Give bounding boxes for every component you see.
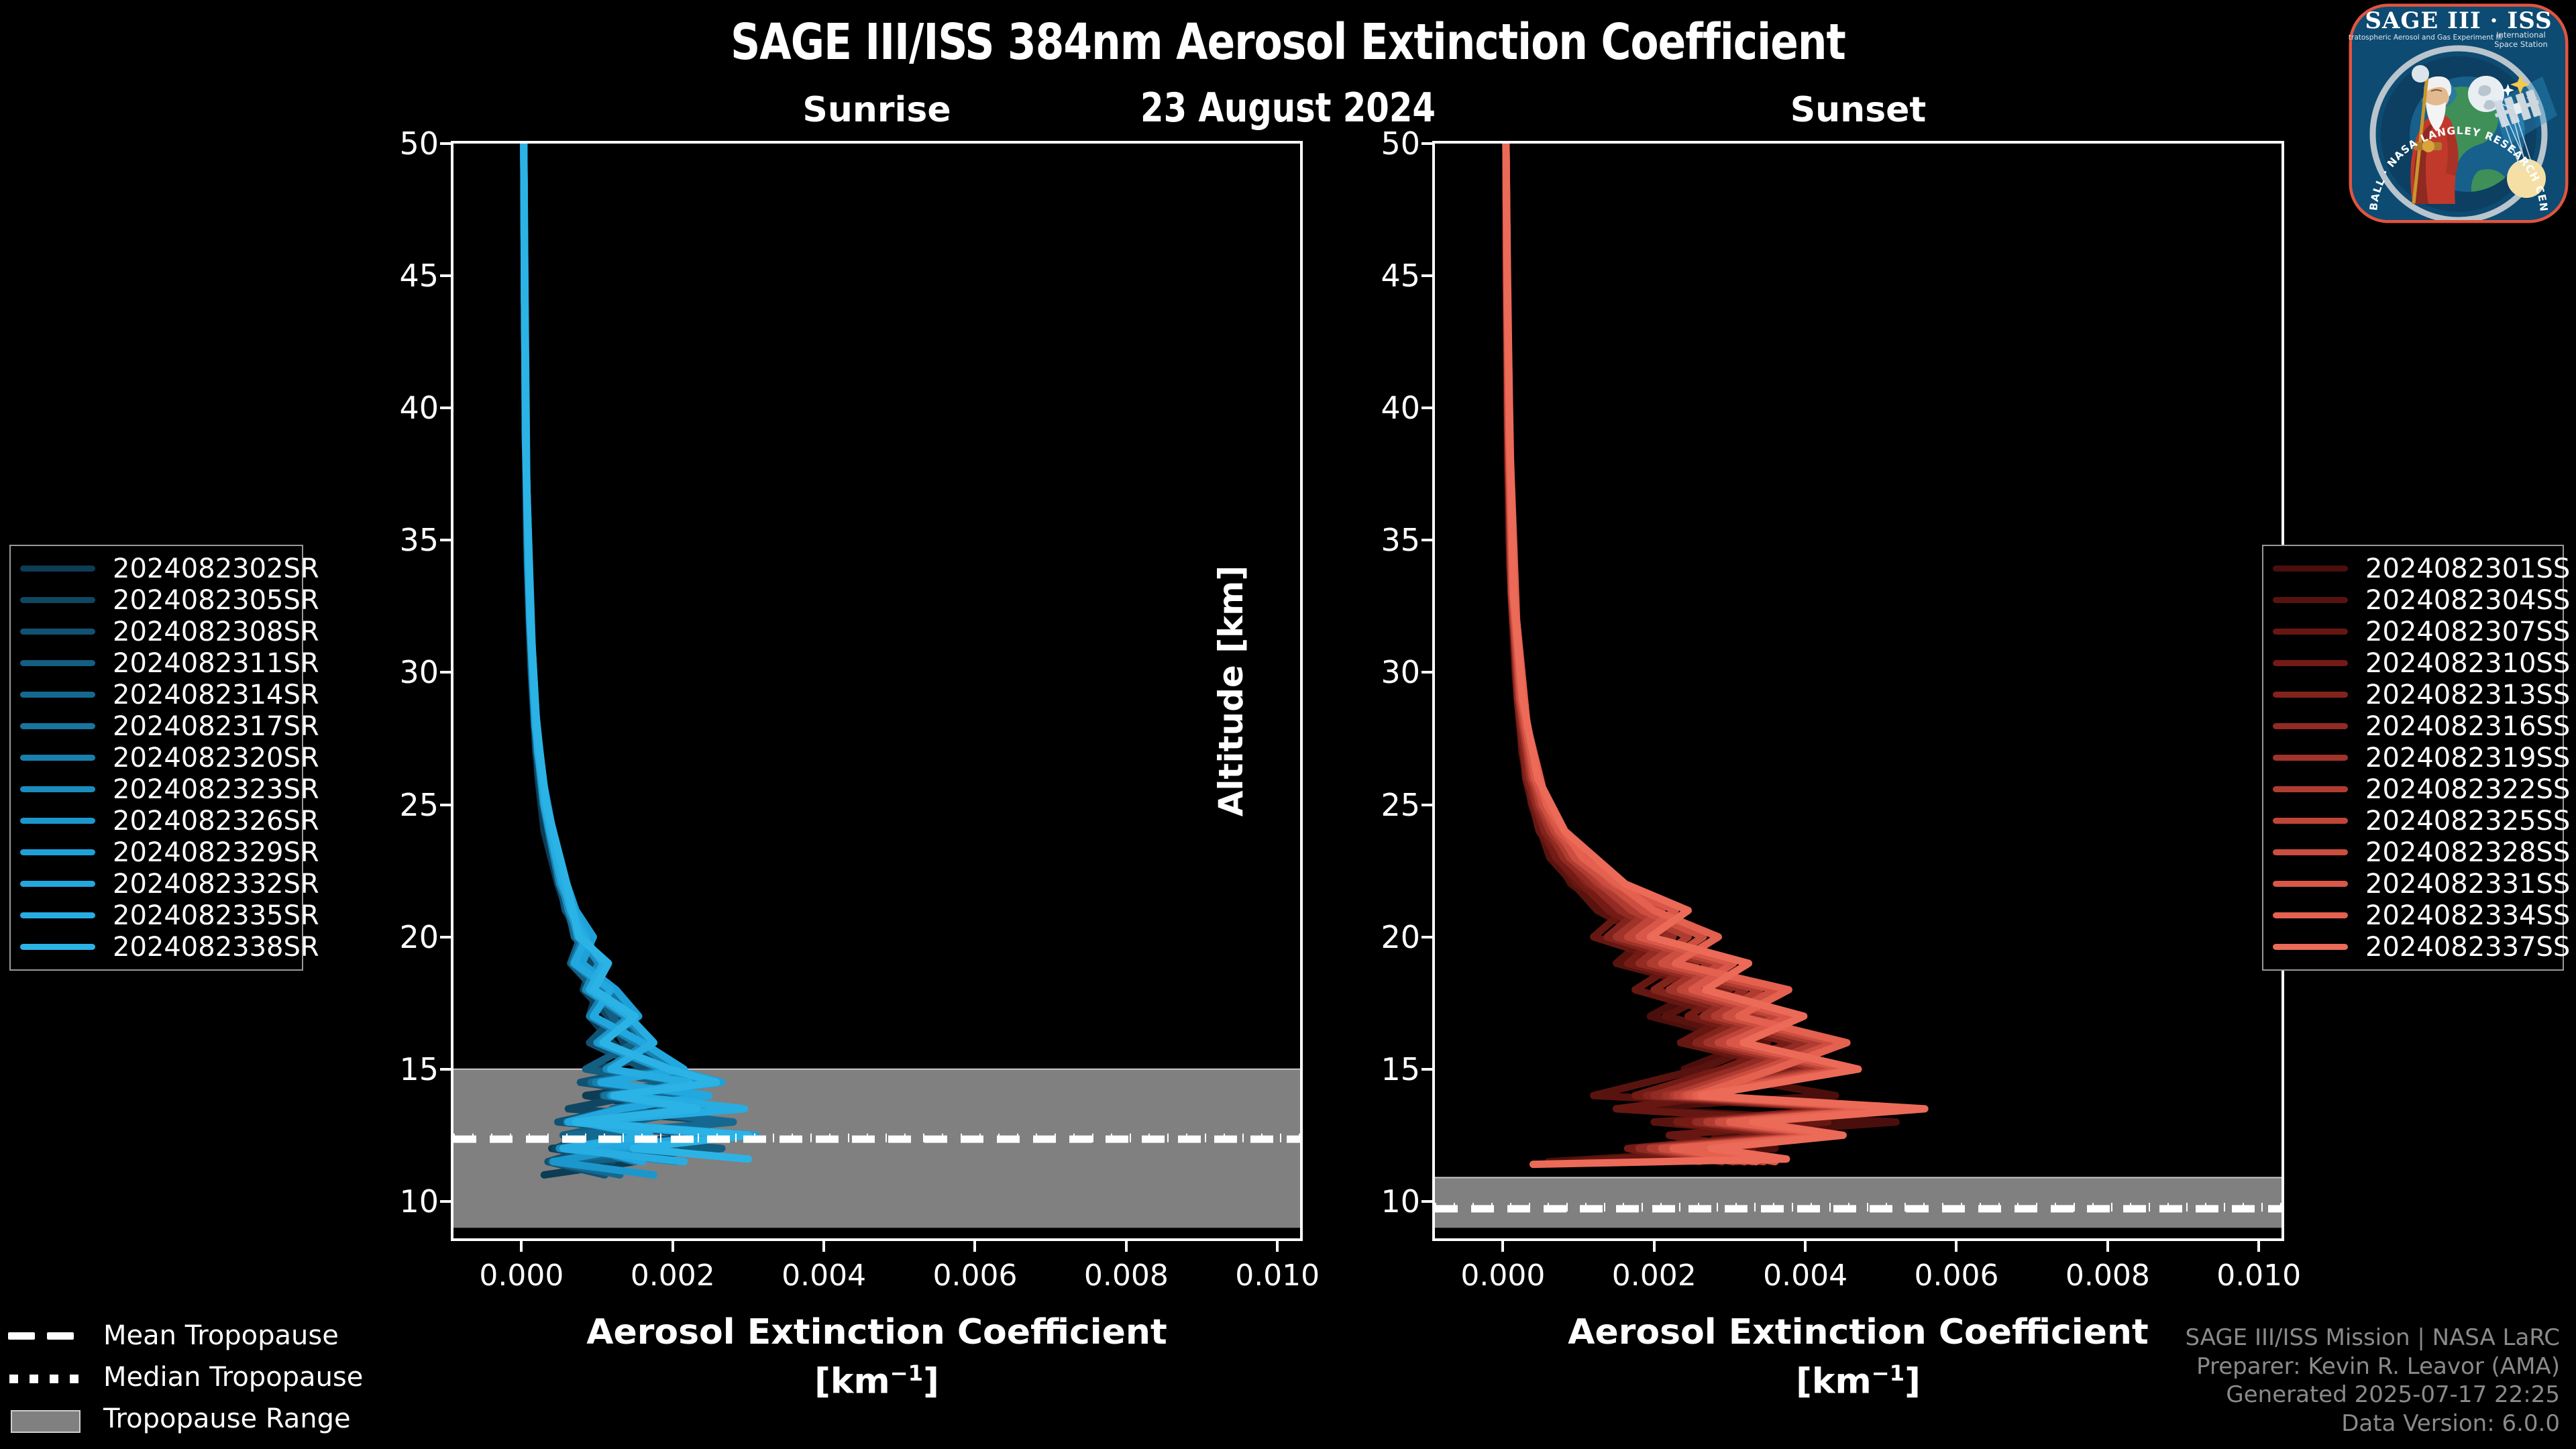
- legend-color-swatch: [2273, 881, 2348, 887]
- legend-label: 2024082322SS: [2365, 774, 2570, 805]
- legend-item[interactable]: 2024082320SR: [20, 742, 292, 773]
- legend-color-swatch: [2273, 912, 2348, 918]
- sage-iii-iss-mission-patch-logo: BALL · NASA LANGLEY RESEARCH CENTER · TA…: [2348, 3, 2569, 224]
- legend-color-swatch: [20, 692, 95, 698]
- x-tick-label: 0.002: [1612, 1258, 1697, 1293]
- legend-sunrise[interactable]: 2024082302SR2024082305SR2024082308SR2024…: [9, 545, 303, 971]
- legend-color-swatch: [2273, 629, 2348, 635]
- x-tick-mark: [1804, 1241, 1807, 1252]
- legend-label-median-tropopause: Median Tropopause: [103, 1362, 363, 1393]
- legend-item[interactable]: 2024082331SS: [2273, 868, 2553, 900]
- legend-color-swatch: [2273, 660, 2348, 666]
- y-tick-mark: [440, 274, 451, 277]
- legend-item[interactable]: 2024082304SS: [2273, 584, 2553, 616]
- legend-color-swatch: [20, 849, 95, 855]
- legend-color-swatch: [20, 881, 95, 887]
- credits-block: SAGE III/ISS Mission | NASA LaRC Prepare…: [2185, 1324, 2560, 1438]
- legend-color-swatch: [2273, 566, 2348, 572]
- x-tick-mark: [1276, 1241, 1279, 1252]
- legend-label: 2024082310SS: [2365, 648, 2570, 679]
- y-axis-title-sunset: Altitude [km]: [1212, 566, 1250, 817]
- legend-label: 2024082311SR: [113, 648, 319, 679]
- legend-item[interactable]: 2024082338SR: [20, 931, 292, 963]
- credit-line-data-version: Data Version: 6.0.0: [2185, 1409, 2560, 1438]
- y-tick-label: 35: [365, 522, 439, 558]
- x-unit-close: ]: [923, 1361, 939, 1401]
- y-tick-mark: [1421, 407, 1432, 409]
- x-tick-mark: [1501, 1241, 1504, 1252]
- profile-line: [524, 144, 756, 1148]
- y-tick-mark: [1421, 142, 1432, 145]
- legend-label: 2024082335SR: [113, 900, 319, 931]
- y-tick-mark: [440, 804, 451, 806]
- legend-label: 2024082337SS: [2365, 932, 2570, 963]
- legend-color-swatch: [20, 786, 95, 792]
- sunset-profile-svg: [1435, 144, 2282, 1238]
- legend-color-swatch: [2273, 944, 2348, 950]
- legend-label: 2024082305SR: [113, 585, 319, 616]
- y-tick-mark: [1421, 539, 1432, 541]
- legend-label-mean-tropopause: Mean Tropopause: [103, 1320, 339, 1351]
- legend-label: 2024082326SR: [113, 806, 319, 837]
- legend-label: 2024082325SS: [2365, 806, 2570, 837]
- x-tick-mark: [520, 1241, 523, 1252]
- y-tick-label: 45: [1346, 258, 1420, 294]
- legend-item[interactable]: 2024082305SR: [20, 584, 292, 616]
- x-axis-title-sunset: Aerosol Extinction Coefficient: [1432, 1312, 2284, 1352]
- y-tick-label: 50: [1346, 125, 1420, 162]
- y-tick-mark: [440, 1200, 451, 1203]
- x-tick-label: 0.010: [2216, 1258, 2301, 1293]
- legend-label: 2024082334SS: [2365, 900, 2570, 931]
- legend-item[interactable]: 2024082307SS: [2273, 616, 2553, 647]
- legend-label: 2024082317SR: [113, 711, 319, 742]
- x-unit-exponent: −1: [890, 1360, 923, 1386]
- y-tick-mark: [1421, 804, 1432, 806]
- x-tick-label: 0.004: [1763, 1258, 1847, 1293]
- legend-label: 2024082323SR: [113, 774, 319, 805]
- legend-label: 2024082320SR: [113, 743, 319, 773]
- legend-item[interactable]: 2024082332SR: [20, 868, 292, 900]
- legend-label: 2024082313SS: [2365, 680, 2570, 710]
- dotted-line-icon: [5, 1368, 86, 1386]
- legend-color-swatch: [2273, 597, 2348, 603]
- x-tick-label: 0.006: [932, 1258, 1017, 1293]
- x-tick-label: 0.004: [782, 1258, 866, 1293]
- legend-sunset[interactable]: 2024082301SS2024082304SS2024082307SS2024…: [2262, 545, 2564, 971]
- legend-color-swatch: [2273, 692, 2348, 698]
- x-tick-mark: [1955, 1241, 1957, 1252]
- x-tick-label: 0.000: [1460, 1258, 1545, 1293]
- legend-label: 2024082338SR: [113, 932, 319, 963]
- y-tick-mark: [1421, 1200, 1432, 1203]
- credit-line-mission: SAGE III/ISS Mission | NASA LaRC: [2185, 1324, 2560, 1352]
- legend-label: 2024082329SR: [113, 837, 319, 868]
- legend-color-swatch: [20, 660, 95, 666]
- legend-color-swatch: [2273, 723, 2348, 729]
- legend-color-swatch: [2273, 755, 2348, 761]
- tropopause-range-band: [1435, 1177, 2282, 1228]
- y-tick-mark: [440, 936, 451, 938]
- legend-label: 2024082308SR: [113, 616, 319, 647]
- legend-color-swatch: [20, 597, 95, 603]
- x-axis-title-sunrise: Aerosol Extinction Coefficient: [451, 1312, 1303, 1352]
- legend-item[interactable]: 2024082322SS: [2273, 773, 2553, 805]
- x-unit-base: [km: [1796, 1361, 1872, 1401]
- x-tick-label: 0.008: [2065, 1258, 2150, 1293]
- legend-item[interactable]: 2024082319SS: [2273, 742, 2553, 773]
- legend-label: 2024082314SR: [113, 680, 319, 710]
- legend-color-swatch: [20, 818, 95, 824]
- y-tick-label: 15: [1346, 1051, 1420, 1087]
- y-tick-mark: [1421, 671, 1432, 674]
- legend-label: 2024082319SS: [2365, 743, 2570, 773]
- y-tick-label: 25: [1346, 787, 1420, 823]
- legend-item[interactable]: 2024082337SS: [2273, 931, 2553, 963]
- y-tick-label: 15: [365, 1051, 439, 1087]
- x-axis-unit-sunset: [km−1]: [1432, 1360, 2284, 1401]
- y-tick-label: 45: [365, 258, 439, 294]
- profile-line: [524, 144, 745, 1148]
- x-tick-label: 0.010: [1235, 1258, 1320, 1293]
- legend-item[interactable]: 2024082329SR: [20, 837, 292, 868]
- legend-tropopause[interactable]: Mean Tropopause Median Tropopause Tropop…: [5, 1315, 363, 1440]
- y-tick-label: 30: [1346, 654, 1420, 690]
- legend-item[interactable]: 2024082335SR: [20, 900, 292, 931]
- legend-item[interactable]: 2024082310SS: [2273, 647, 2553, 679]
- y-tick-label: 40: [1346, 390, 1420, 426]
- x-unit-close: ]: [1904, 1361, 1921, 1401]
- legend-item[interactable]: 2024082313SS: [2273, 679, 2553, 710]
- x-tick-label: 0.002: [631, 1258, 715, 1293]
- legend-label: 2024082331SS: [2365, 869, 2570, 900]
- legend-item[interactable]: 2024082328SS: [2273, 837, 2553, 868]
- x-tick-mark: [1653, 1241, 1656, 1252]
- figure-root: SAGE III/ISS 384nm Aerosol Extinction Co…: [0, 0, 2576, 1449]
- legend-item-tropopause-range[interactable]: Tropopause Range: [5, 1398, 363, 1440]
- x-tick-label: 0.006: [1914, 1258, 1998, 1293]
- legend-item[interactable]: 2024082317SR: [20, 710, 292, 742]
- dashed-line-icon: [5, 1327, 86, 1344]
- y-tick-mark: [440, 671, 451, 674]
- x-axis-unit-sunrise: [km−1]: [451, 1360, 1303, 1401]
- legend-item[interactable]: 2024082311SR: [20, 647, 292, 679]
- legend-color-swatch: [20, 566, 95, 572]
- x-tick-mark: [822, 1241, 825, 1252]
- legend-label: 2024082328SS: [2365, 837, 2570, 868]
- legend-item[interactable]: 2024082323SR: [20, 773, 292, 805]
- legend-item[interactable]: 2024082325SS: [2273, 805, 2553, 837]
- panel-title-sunrise: Sunrise: [451, 90, 1303, 130]
- y-tick-label: 20: [365, 919, 439, 955]
- legend-item[interactable]: 2024082308SR: [20, 616, 292, 647]
- y-tick-label: 25: [365, 787, 439, 823]
- y-tick-mark: [1421, 1068, 1432, 1071]
- legend-color-swatch: [20, 629, 95, 635]
- legend-label: 2024082301SS: [2365, 553, 2570, 584]
- legend-label: 2024082304SS: [2365, 585, 2570, 616]
- y-tick-label: 10: [365, 1183, 439, 1220]
- legend-color-swatch: [20, 723, 95, 729]
- legend-item[interactable]: 2024082301SS: [2273, 553, 2553, 584]
- x-tick-mark: [1125, 1241, 1128, 1252]
- svg-text:Stratospheric Aerosol and Gas: Stratospheric Aerosol and Gas Experiment…: [2348, 34, 2502, 42]
- x-tick-mark: [973, 1241, 976, 1252]
- y-tick-label: 35: [1346, 522, 1420, 558]
- svg-text:International: International: [2496, 30, 2545, 40]
- legend-color-swatch: [20, 755, 95, 761]
- y-tick-label: 30: [365, 654, 439, 690]
- x-tick-mark: [672, 1241, 674, 1252]
- legend-item[interactable]: 2024082314SR: [20, 679, 292, 710]
- sunrise-profile-svg: [453, 144, 1300, 1238]
- x-tick-mark: [2106, 1241, 2109, 1252]
- y-tick-mark: [1421, 274, 1432, 277]
- legend-label: 2024082332SR: [113, 869, 319, 900]
- x-unit-base: [km: [814, 1361, 890, 1401]
- x-tick-mark: [2257, 1241, 2260, 1252]
- svg-text:Space Station: Space Station: [2494, 40, 2548, 49]
- y-tick-label: 50: [365, 125, 439, 162]
- y-tick-label: 40: [365, 390, 439, 426]
- legend-item[interactable]: 2024082316SS: [2273, 710, 2553, 742]
- profile-line: [524, 144, 749, 1159]
- plot-area-sunset: [1432, 141, 2284, 1241]
- legend-item[interactable]: 2024082334SS: [2273, 900, 2553, 931]
- shaded-band-icon: [5, 1410, 86, 1428]
- legend-color-swatch: [2273, 818, 2348, 824]
- legend-item-mean-tropopause[interactable]: Mean Tropopause: [5, 1315, 363, 1356]
- y-tick-mark: [440, 1068, 451, 1071]
- legend-color-swatch: [20, 912, 95, 918]
- x-tick-label: 0.000: [479, 1258, 563, 1293]
- legend-label: 2024082316SS: [2365, 711, 2570, 742]
- y-tick-label: 10: [1346, 1183, 1420, 1220]
- legend-label: 2024082307SS: [2365, 616, 2570, 647]
- x-unit-exponent: −1: [1872, 1360, 1904, 1386]
- panel-title-sunset: Sunset: [1432, 90, 2284, 130]
- legend-item-median-tropopause[interactable]: Median Tropopause: [5, 1356, 363, 1398]
- plot-area-sunrise: [451, 141, 1303, 1241]
- y-tick-mark: [440, 539, 451, 541]
- x-tick-label: 0.008: [1084, 1258, 1169, 1293]
- legend-color-swatch: [2273, 786, 2348, 792]
- legend-item[interactable]: 2024082302SR: [20, 553, 292, 584]
- y-tick-mark: [440, 407, 451, 409]
- profile-line: [1506, 144, 1866, 1162]
- figure-title: SAGE III/ISS 384nm Aerosol Extinction Co…: [103, 13, 2473, 71]
- legend-color-swatch: [20, 944, 95, 950]
- legend-label: 2024082302SR: [113, 553, 319, 584]
- legend-label-tropopause-range: Tropopause Range: [103, 1403, 351, 1434]
- credit-line-preparer: Preparer: Kevin R. Leavor (AMA): [2185, 1352, 2560, 1381]
- legend-color-swatch: [2273, 849, 2348, 855]
- y-tick-mark: [1421, 936, 1432, 938]
- legend-item[interactable]: 2024082326SR: [20, 805, 292, 837]
- y-tick-mark: [440, 142, 451, 145]
- y-tick-label: 20: [1346, 919, 1420, 955]
- credit-line-generated: Generated 2025-07-17 22:25: [2185, 1381, 2560, 1409]
